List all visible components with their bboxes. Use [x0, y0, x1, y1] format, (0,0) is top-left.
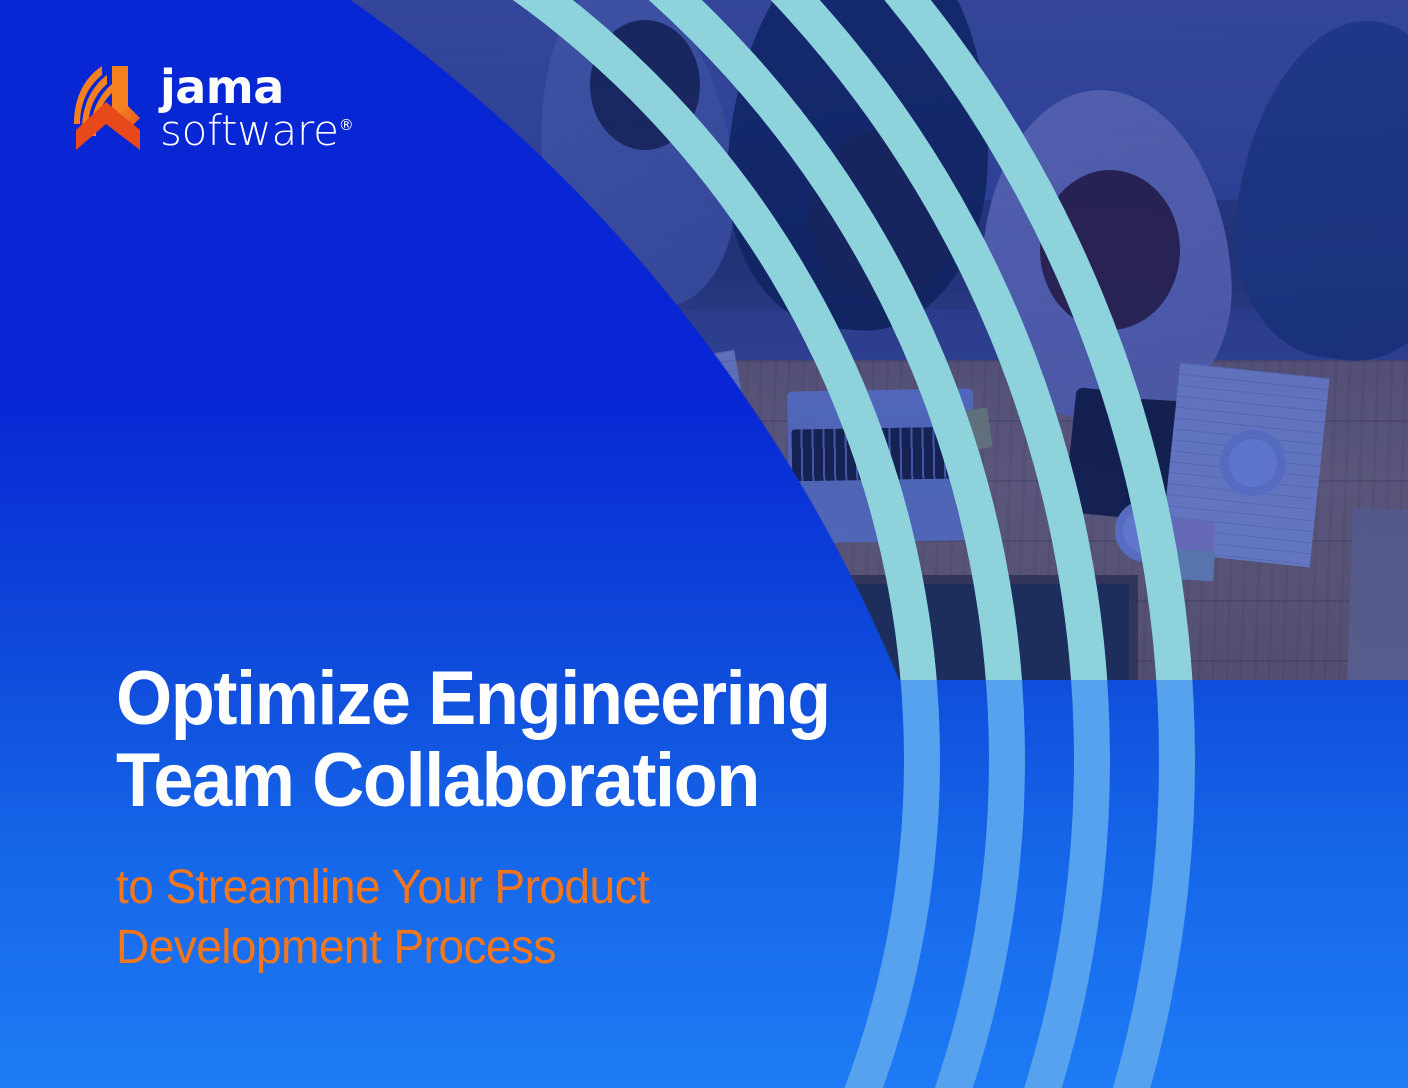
jama-software-logo[interactable]: jama software®: [70, 62, 354, 154]
headline-line-1: Optimize Engineering: [116, 658, 1161, 740]
arc-stripe-photo-1: [340, 0, 940, 680]
logo-word-software: software®: [160, 110, 354, 151]
cover-subhead: to Streamline Your Product Development P…: [116, 858, 1172, 978]
arc-stripes-on-photo-clip: [340, 0, 1408, 680]
logo-wordmark: jama software®: [160, 65, 354, 151]
registered-trademark-icon: ®: [339, 116, 354, 134]
cover-headline: Optimize Engineering Team Collaboration: [116, 658, 1161, 822]
subhead-line-1: to Streamline Your Product: [116, 858, 1172, 918]
headline-line-2: Team Collaboration: [116, 740, 1161, 822]
subhead-line-2: Development Process: [116, 918, 1172, 978]
jama-logo-mark-icon: [70, 62, 144, 154]
ebook-cover: jama software® Optimize Engineering Team…: [0, 0, 1408, 1088]
arc-stripe-photo-3: [340, 0, 1110, 680]
arc-stripe-photo-4: [340, 0, 1195, 680]
arc-stripes-on-photo: [340, 0, 1408, 680]
arc-stripes-on-photo-inner: [340, 0, 1408, 680]
logo-word-jama: jama: [160, 65, 354, 110]
arc-stripe-photo-2: [340, 0, 1025, 680]
cover-text-block: Optimize Engineering Team Collaboration …: [116, 658, 1216, 978]
logo-word-software-text: software: [160, 106, 339, 155]
